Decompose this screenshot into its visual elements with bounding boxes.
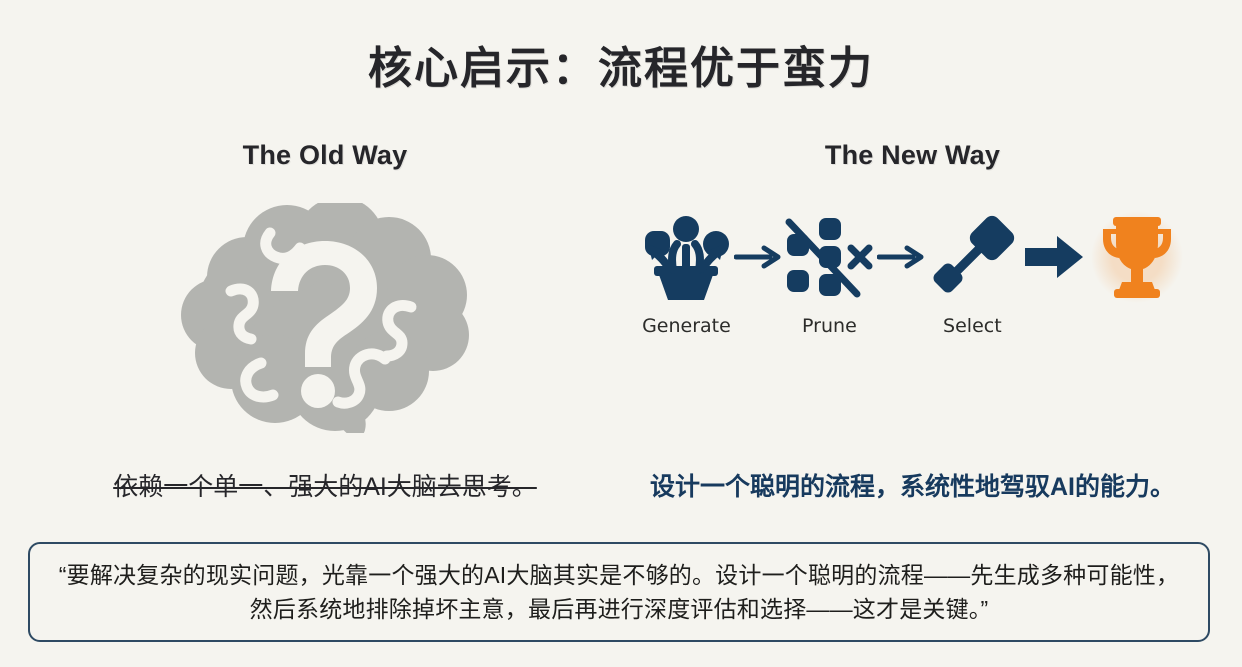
pruned-grid-slash-icon xyxy=(783,209,875,305)
arrow-right-bold-icon xyxy=(1019,209,1089,305)
new-way-caption: 设计一个聪明的流程，系统性地驾驭AI的能力。 xyxy=(640,472,1185,502)
page-title: 核心启示：流程优于蛮力 xyxy=(0,32,1242,96)
old-way-heading: The Old Way xyxy=(60,140,590,171)
process-pipeline: Generate xyxy=(640,209,1185,364)
brain-question-mark-icon xyxy=(60,193,590,443)
arrow-right-thin-icon xyxy=(876,209,926,305)
connected-diamonds-icon xyxy=(926,209,1018,305)
pipeline-step-label: Select xyxy=(943,315,1002,337)
old-way-caption: 依赖一个单一、强大的AI大脑去思考。 xyxy=(60,472,590,502)
pipeline-step-generate: Generate xyxy=(640,209,733,337)
arrow-right-thin-icon xyxy=(733,209,783,305)
pipeline-step-select: Select xyxy=(926,209,1019,337)
pipeline-step-prune: Prune xyxy=(783,209,876,337)
funnel-ideas-icon xyxy=(640,209,732,305)
pipeline-step-label: Generate xyxy=(642,315,731,337)
quote-box: “要解决复杂的现实问题，光靠一个强大的AI大脑其实是不够的。设计一个聪明的流程—… xyxy=(28,542,1210,642)
column-old-way: The Old Way xyxy=(60,140,590,443)
quote-text: “要解决复杂的现实问题，光靠一个强大的AI大脑其实是不够的。设计一个聪明的流程—… xyxy=(30,558,1208,627)
new-way-heading: The New Way xyxy=(640,140,1185,171)
column-new-way: The New Way xyxy=(640,140,1185,364)
pipeline-step-label: Prune xyxy=(802,315,857,337)
trophy-icon xyxy=(1089,209,1185,305)
slide-canvas: 核心启示：流程优于蛮力 The Old Way xyxy=(0,0,1242,667)
